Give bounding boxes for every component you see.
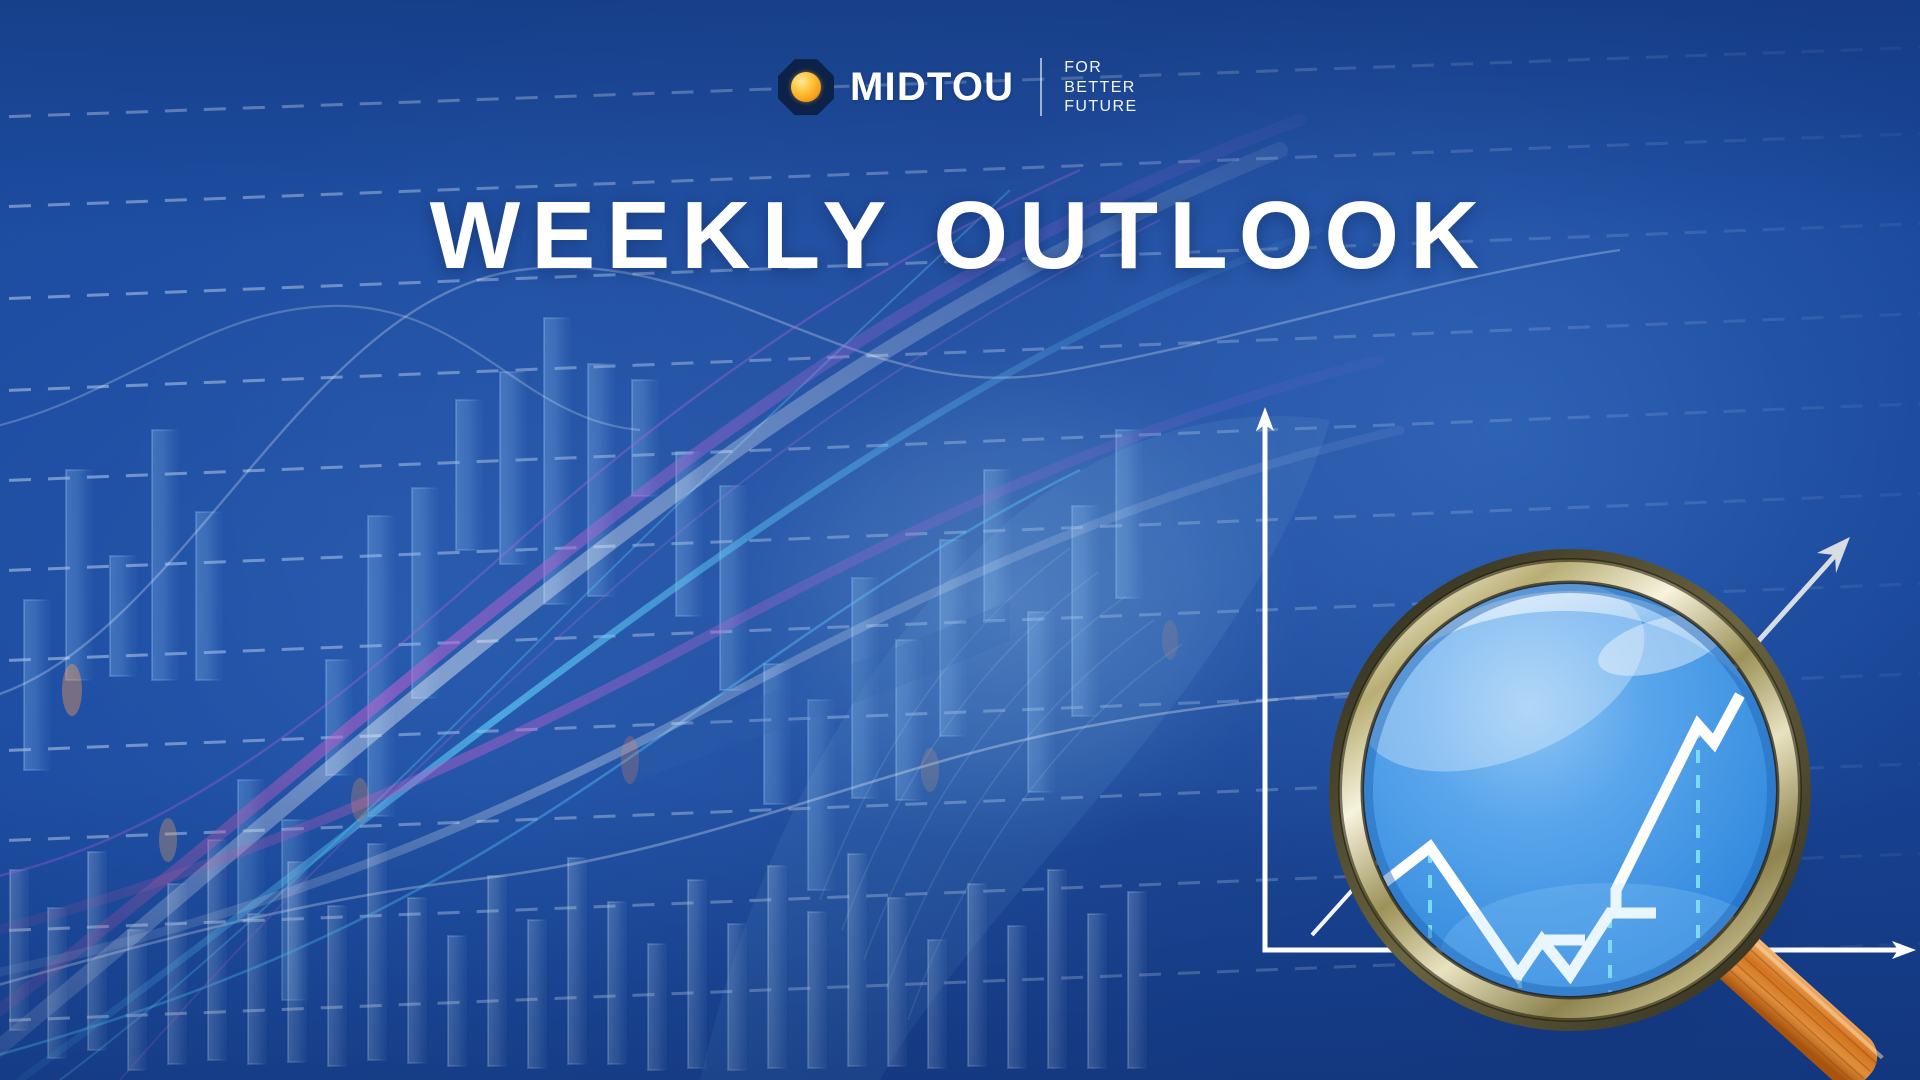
magnifier-illustration [1050, 395, 1920, 1080]
logo-divider [1040, 58, 1042, 116]
tagline-line-1: FOR [1064, 58, 1137, 78]
brand-tagline: FOR BETTER FUTURE [1064, 58, 1137, 117]
page-title: WEEKLY OUTLOOK [0, 188, 1920, 284]
midtou-octagon-icon [778, 59, 834, 115]
tagline-line-3: FUTURE [1064, 97, 1137, 117]
tagline-line-2: BETTER [1064, 78, 1137, 98]
brand-wordmark: MIDTOU [850, 67, 1014, 107]
brand-logo[interactable]: MIDTOU FOR BETTER FUTURE [778, 58, 1138, 117]
weekly-outlook-banner: MIDTOU FOR BETTER FUTURE WEEKLY OUTLOOK [0, 0, 1920, 1080]
